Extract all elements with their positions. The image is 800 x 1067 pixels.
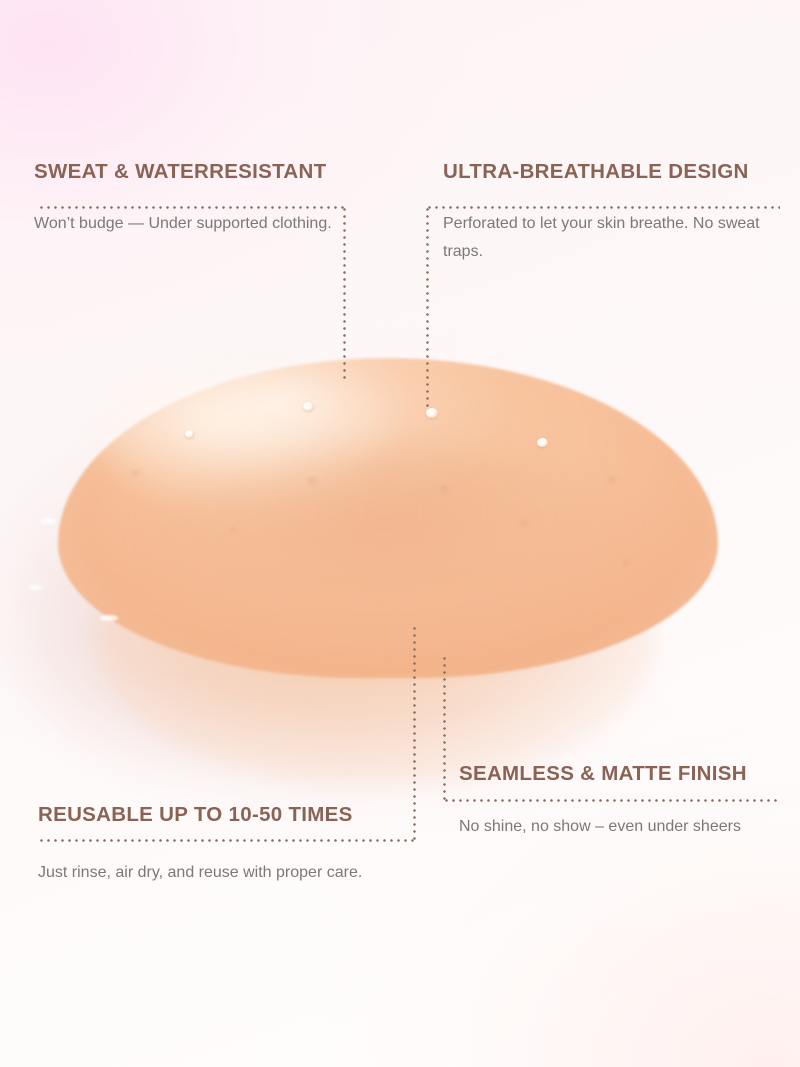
product-edge-fade (40, 340, 740, 700)
connector-line-seamless-vertical (443, 655, 446, 801)
perforation-hole (185, 430, 194, 438)
feature-block-seamless-matte-finish: SEAMLESS & MATTE FINISH No shine, no sho… (459, 762, 794, 841)
perforation-hole (622, 560, 631, 568)
surface-speck (28, 585, 42, 590)
perforation-hole (132, 470, 140, 477)
feature-body-seamless-matte-finish: No shine, no show – even under sheers (459, 813, 794, 841)
feature-body-reusable-10-50-times: Just rinse, air dry, and reuse with prop… (38, 859, 418, 887)
feature-body-ultra-breathable-design: Perforated to let your skin breathe. No … (443, 210, 788, 265)
feature-title-reusable-10-50-times: REUSABLE UP TO 10-50 TIMES (38, 803, 418, 827)
perforation-hole (303, 402, 314, 411)
feature-title-ultra-breathable-design: ULTRA-BREATHABLE DESIGN (443, 160, 788, 184)
perforation-hole (308, 477, 317, 485)
perforation-hole (230, 527, 238, 534)
feature-block-reusable-10-50-times: REUSABLE UP TO 10-50 TIMES Just rinse, a… (38, 803, 418, 887)
feature-body-sweat-waterresistant: Won’t budge — Under supported clothing. (34, 210, 364, 238)
feature-title-seamless-matte-finish: SEAMLESS & MATTE FINISH (459, 762, 794, 786)
surface-speck (100, 615, 118, 621)
feature-title-sweat-waterresistant: SWEAT & WATERRESISTANT (34, 160, 364, 184)
perforation-hole (440, 485, 450, 494)
connector-line-breathable-vertical (426, 206, 429, 410)
perforation-hole (520, 520, 529, 528)
feature-block-sweat-waterresistant: SWEAT & WATERRESISTANT Won’t budge — Und… (34, 160, 364, 238)
perforation-hole (537, 438, 548, 447)
infographic-canvas: SWEAT & WATERRESISTANT Won’t budge — Und… (0, 0, 800, 1067)
surface-speck (40, 518, 56, 524)
feature-block-ultra-breathable-design: ULTRA-BREATHABLE DESIGN Perforated to le… (443, 160, 788, 265)
perforation-hole (608, 476, 618, 485)
product-image-silicone-nipple-cover (0, 330, 800, 810)
